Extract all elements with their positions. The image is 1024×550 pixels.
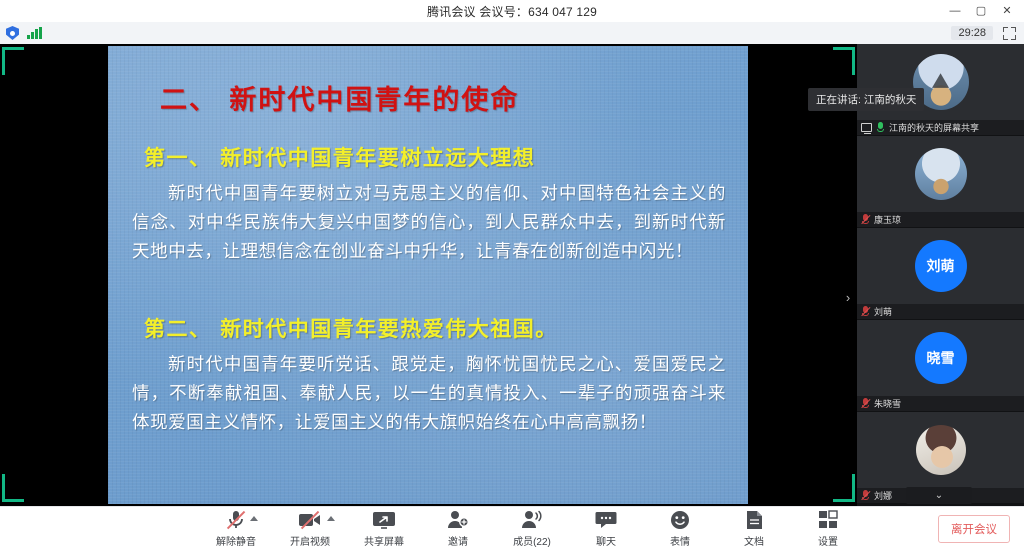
tile-video-area (857, 136, 1024, 212)
toolbar-item-label: 开启视频 (290, 533, 330, 548)
toolbar-participants-button[interactable]: 成员(22) (506, 509, 558, 548)
toolbar-item-label: 文档 (744, 533, 764, 548)
toolbar-item-label: 设置 (818, 533, 838, 548)
share-corner-bottom-left (2, 480, 24, 502)
microphone-muted-icon (861, 490, 870, 501)
chevron-up-icon[interactable] (327, 516, 335, 521)
participants-icon (521, 509, 543, 530)
toolbar-item-label: 聊天 (596, 533, 616, 548)
participant-name: 刘娜 (874, 489, 892, 502)
close-button[interactable]: ✕ (994, 0, 1020, 22)
signal-bars-icon[interactable] (27, 27, 42, 39)
toolbar-emoji-button[interactable]: 表情 (654, 509, 706, 548)
window-title: 腾讯会议 会议号：634 047 129 (427, 3, 597, 20)
tile-video-area (857, 412, 1024, 488)
title-bar: 腾讯会议 会议号：634 047 129 — ▢ ✕ (0, 0, 1024, 22)
maximize-button[interactable]: ▢ (968, 0, 994, 22)
toolbar-unmute-button[interactable]: 解除静音 (210, 509, 262, 548)
microphone-muted-icon (861, 398, 870, 409)
screen-share-icon (372, 509, 396, 530)
toolbar-item-label: 表情 (670, 533, 690, 548)
toolbar-share-screen-button[interactable]: 共享屏幕 (358, 509, 410, 548)
window-controls: — ▢ ✕ (942, 0, 1020, 22)
toolbar-invite-button[interactable]: 邀请 (432, 509, 484, 548)
participant-name: 刘萌 (874, 305, 892, 318)
status-bar-right: 29:28 (951, 26, 1024, 40)
meeting-timer: 29:28 (951, 26, 993, 40)
participant-name: 江南的秋天的屏幕共享 (889, 121, 979, 134)
status-bar: 29:28 (0, 22, 1024, 44)
chat-bubble-icon (595, 509, 617, 530)
shield-icon[interactable] (6, 26, 19, 40)
chevron-up-icon[interactable] (250, 516, 258, 521)
avatar (915, 148, 967, 200)
collapse-sidebar-chevron-icon[interactable]: › (841, 284, 855, 310)
microphone-muted-icon (227, 509, 245, 530)
mountain-glyph-icon: ⛰ (932, 71, 949, 94)
leave-meeting-button[interactable]: 离开会议 (938, 515, 1010, 543)
screen-share-icon (861, 123, 872, 132)
microphone-muted-icon (861, 306, 870, 317)
toolbar-item-label: 成员(22) (513, 533, 551, 548)
toolbar-settings-button[interactable]: 设置 (802, 509, 854, 548)
tile-label: 刘萌 (857, 304, 1024, 319)
toolbar-document-button[interactable]: 文档 (728, 509, 780, 548)
speaking-tooltip: 正在讲话: 江南的秋天 (808, 88, 924, 111)
avatar (916, 425, 966, 475)
share-corner-top-right (833, 47, 855, 69)
toolbar-start-video-button[interactable]: 开启视频 (284, 509, 336, 548)
tile-label: 江南的秋天的屏幕共享 (857, 120, 1024, 135)
participant-name: 康玉琼 (874, 213, 901, 226)
slide-body-1: 新时代中国青年要树立对马克思主义的信仰、对中国特色社会主义的信念、对中华民族伟大… (126, 172, 730, 267)
meeting-window: 腾讯会议 会议号：634 047 129 — ▢ ✕ 29:28 (0, 0, 1024, 550)
tile-label: 朱晓雪 (857, 396, 1024, 411)
toolbar-item-label: 邀请 (448, 533, 468, 548)
participants-sidebar: ⛰ 江南的秋天的屏幕共享 康玉琼 刘萌 刘萌 (857, 44, 1024, 506)
tile-label: 康玉琼 (857, 212, 1024, 227)
share-corner-bottom-right (833, 480, 855, 502)
participant-tile-1[interactable]: 康玉琼 (857, 136, 1024, 227)
share-corner-top-left (2, 47, 24, 69)
presentation-slide: 二、 新时代中国青年的使命 第一、 新时代中国青年要树立远大理想 新时代中国青年… (108, 46, 748, 504)
slide-body-2: 新时代中国青年要听党话、跟党走，胸怀忧国忧民之心、爱国爱民之情，不断奉献祖国、奉… (126, 343, 730, 438)
slide-title: 二、 新时代中国青年的使命 (126, 46, 730, 117)
participant-name: 朱晓雪 (874, 397, 901, 410)
participant-tile-2[interactable]: 刘萌 刘萌 (857, 228, 1024, 319)
emoji-smiley-icon (670, 509, 690, 530)
sidebar-scroll-down-button[interactable]: ⌄ (906, 487, 972, 504)
minimize-button[interactable]: — (942, 0, 968, 22)
tile-video-area: 晓雪 (857, 320, 1024, 396)
participant-tile-3[interactable]: 晓雪 朱晓雪 (857, 320, 1024, 411)
fullscreen-icon[interactable] (1003, 27, 1016, 40)
shared-screen-stage[interactable]: 二、 新时代中国青年的使命 第一、 新时代中国青年要树立远大理想 新时代中国青年… (0, 44, 857, 506)
toolbar-item-label: 共享屏幕 (364, 533, 404, 548)
avatar: 刘萌 (915, 240, 967, 292)
invite-person-icon (447, 509, 469, 530)
toolbar-items: 解除静音 开启视频 共享屏幕 邀请 (170, 509, 854, 548)
toolbar-item-label: 解除静音 (216, 533, 256, 548)
tile-video-area: 刘萌 (857, 228, 1024, 304)
settings-grid-icon (818, 509, 838, 530)
slide-heading-2: 第二、 新时代中国青年要热爱伟大祖国。 (126, 313, 730, 343)
avatar: 晓雪 (915, 332, 967, 384)
document-icon (746, 509, 763, 530)
status-bar-left (0, 26, 42, 40)
microphone-muted-icon (861, 214, 870, 225)
camera-off-icon (298, 509, 322, 530)
microphone-icon (876, 122, 885, 133)
meeting-toolbar: 解除静音 开启视频 共享屏幕 邀请 (0, 506, 1024, 550)
toolbar-chat-button[interactable]: 聊天 (580, 509, 632, 548)
slide-heading-1: 第一、 新时代中国青年要树立远大理想 (126, 142, 730, 172)
